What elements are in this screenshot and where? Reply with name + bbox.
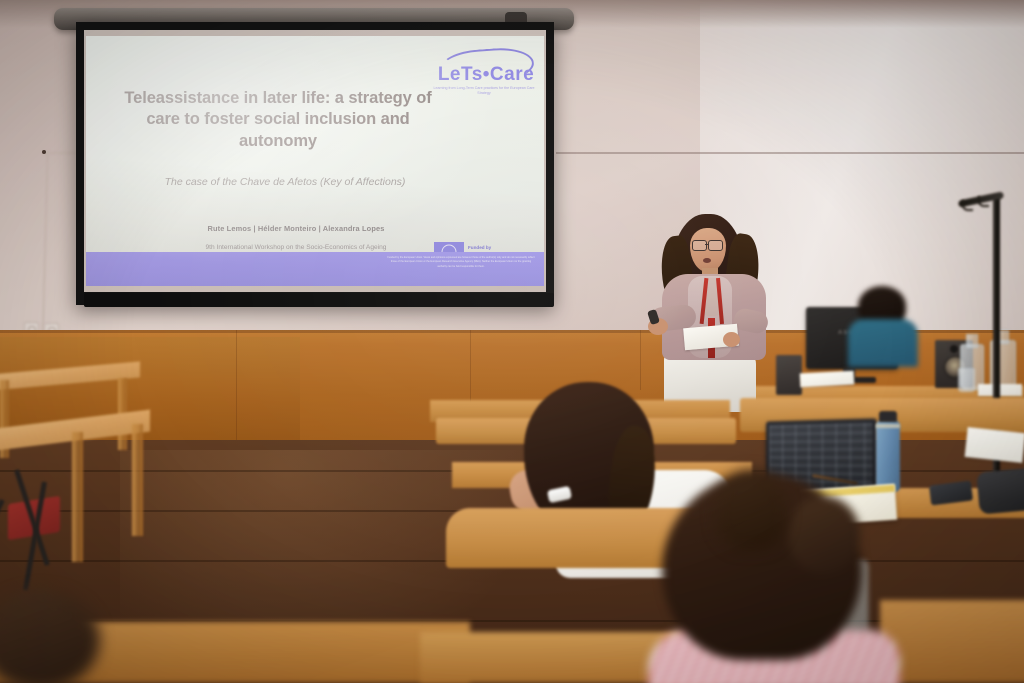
glasses-icon [692, 240, 707, 251]
speaker-tweeter-icon [950, 345, 958, 353]
presenter [648, 214, 778, 404]
wall-picture-rail [556, 152, 1024, 154]
slide-footer-band: Funded by the European Union. Views and … [86, 252, 544, 286]
wall-cable-conduit-horizontal [44, 152, 76, 154]
attendee-shirt [848, 319, 918, 367]
wainscot-seam [236, 330, 237, 442]
desk-papers [965, 427, 1024, 463]
projector-screen-bottom-bar [84, 293, 554, 307]
slide-title: Teleassistance in later life: a strategy… [120, 88, 436, 152]
presenter-mouth [703, 258, 711, 263]
slide-funding-disclaimer: Funded by the European Union. Views and … [386, 256, 536, 269]
coat-rack-hook-icon [978, 196, 989, 207]
water-bottle-ring [876, 424, 900, 428]
letscare-logo: LeTs•Care Learning from Long-Term Care p… [426, 48, 538, 104]
left-table-front-leg [132, 424, 143, 536]
logo-wordmark: LeTs•Care [436, 64, 536, 86]
audience-hair-bun [788, 496, 860, 574]
projection-surface: LeTs•Care Learning from Long-Term Care p… [84, 30, 546, 292]
left-table-front-leg [72, 432, 83, 562]
wainscot-seam [640, 330, 641, 390]
drinking-glass [958, 368, 975, 392]
water-carafe-neck [966, 334, 978, 348]
foreground-blur-head-right [716, 470, 786, 550]
slide-authors: Rute Lemos | Hélder Monteiro | Alexandra… [146, 224, 446, 233]
projector-screen: LeTs•Care Learning from Long-Term Care p… [76, 22, 554, 305]
glasses-icon [708, 240, 723, 251]
eu-funding-line-1: Funded by [468, 245, 512, 252]
pc-tower [776, 355, 802, 395]
classroom-presentation-photo: LeTs•Care Learning from Long-Term Care p… [0, 0, 1024, 683]
presenter-hand-right [723, 332, 740, 347]
desk-papers [800, 371, 855, 388]
laptop-bag [976, 467, 1024, 514]
slide-subtitle: The case of the Chave de Afetos (Key of … [120, 176, 450, 188]
coat-rack-hook-icon [962, 200, 973, 211]
conduit-anchor-top [42, 150, 46, 154]
water-bottle-cap [879, 411, 897, 422]
glasses-bridge [705, 244, 708, 245]
desk-papers [978, 384, 1022, 396]
logo-tagline: Learning from Long-Term Care practices f… [432, 86, 536, 97]
seated-attendee-technician [848, 286, 920, 364]
presentation-slide: LeTs•Care Learning from Long-Term Care p… [86, 36, 544, 286]
